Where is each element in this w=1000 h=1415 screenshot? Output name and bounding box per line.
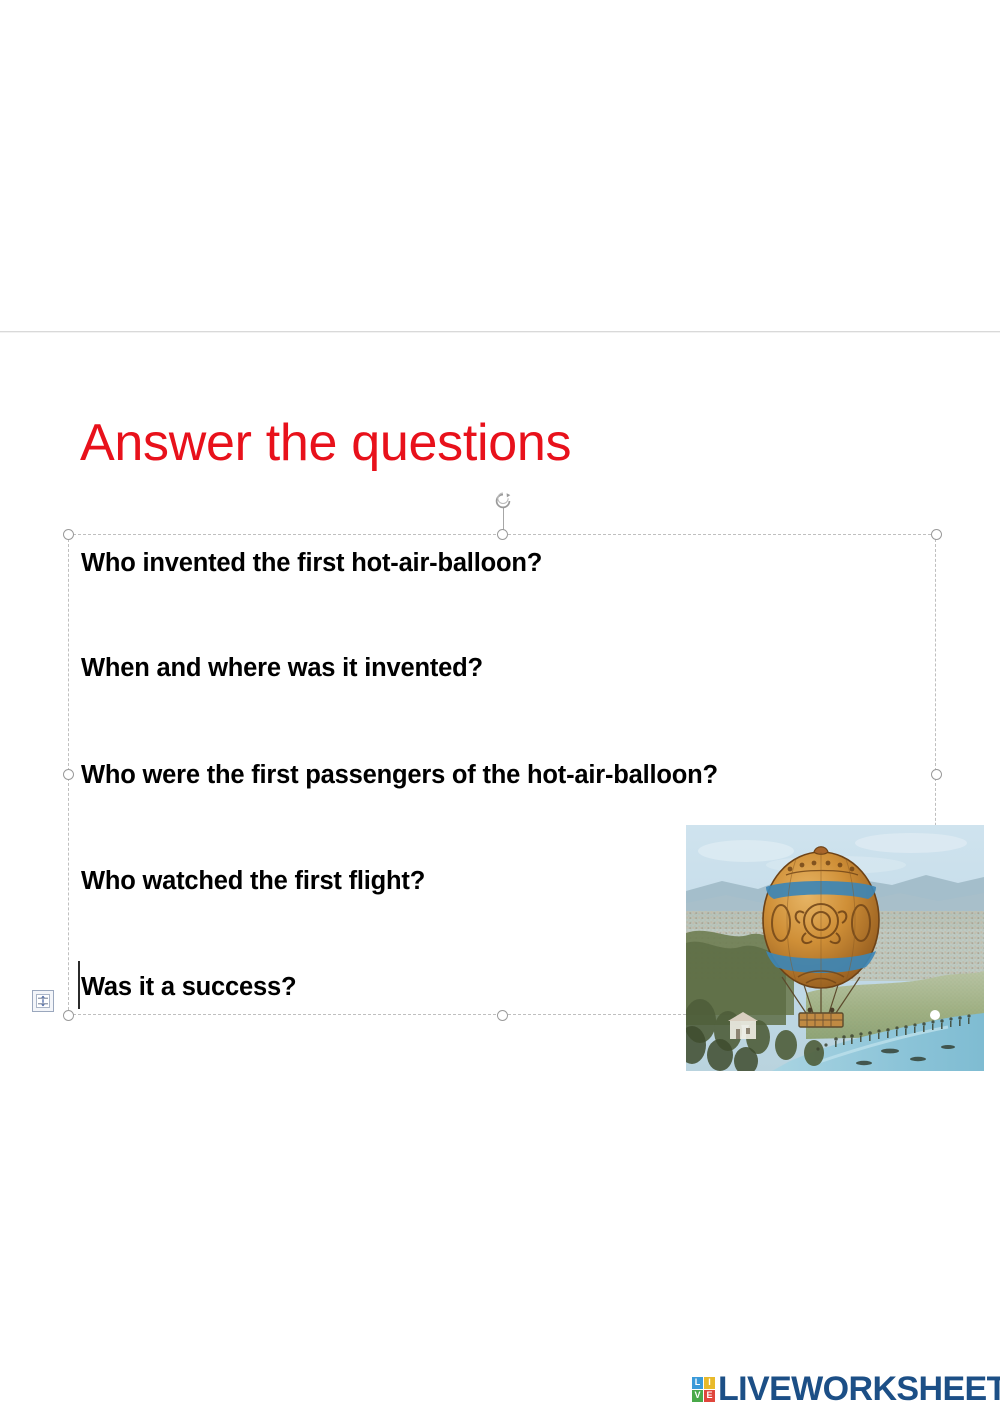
question-item: Who were the first passengers of the hot…: [81, 760, 718, 790]
resize-handle-top-left[interactable]: [63, 529, 74, 540]
logo-cell-e: E: [704, 1390, 715, 1402]
logo-cell-l: L: [692, 1377, 703, 1389]
rotate-icon[interactable]: [493, 491, 513, 511]
page-title: Answer the questions: [80, 413, 571, 473]
resize-handle-bottom-left[interactable]: [63, 1010, 74, 1021]
page-root: Answer the questions Who invented the fi…: [0, 0, 1000, 1415]
question-item: Was it a success?: [81, 972, 296, 1002]
resize-handle-middle-right[interactable]: [931, 769, 942, 780]
hot-air-balloon-illustration: [686, 825, 984, 1071]
question-item: When and where was it invented?: [81, 653, 483, 683]
question-item: Who watched the first flight?: [81, 866, 425, 896]
liveworksheets-logo: L I V E LIVEWORKSHEETS: [692, 1371, 1000, 1407]
liveworksheets-logo-mark: L I V E: [692, 1377, 715, 1402]
resize-handle-top-middle[interactable]: [497, 529, 508, 540]
logo-cell-v: V: [692, 1390, 703, 1402]
liveworksheets-wordmark: LIVEWORKSHEETS: [718, 1372, 1000, 1406]
resize-handle-middle-left[interactable]: [63, 769, 74, 780]
autofit-options-icon[interactable]: [32, 990, 54, 1012]
text-caret: [78, 961, 80, 1009]
question-item: Who invented the first hot-air-balloon?: [81, 548, 542, 578]
resize-handle-top-right[interactable]: [931, 529, 942, 540]
resize-handle-bottom-middle[interactable]: [497, 1010, 508, 1021]
logo-cell-i: I: [704, 1377, 715, 1389]
